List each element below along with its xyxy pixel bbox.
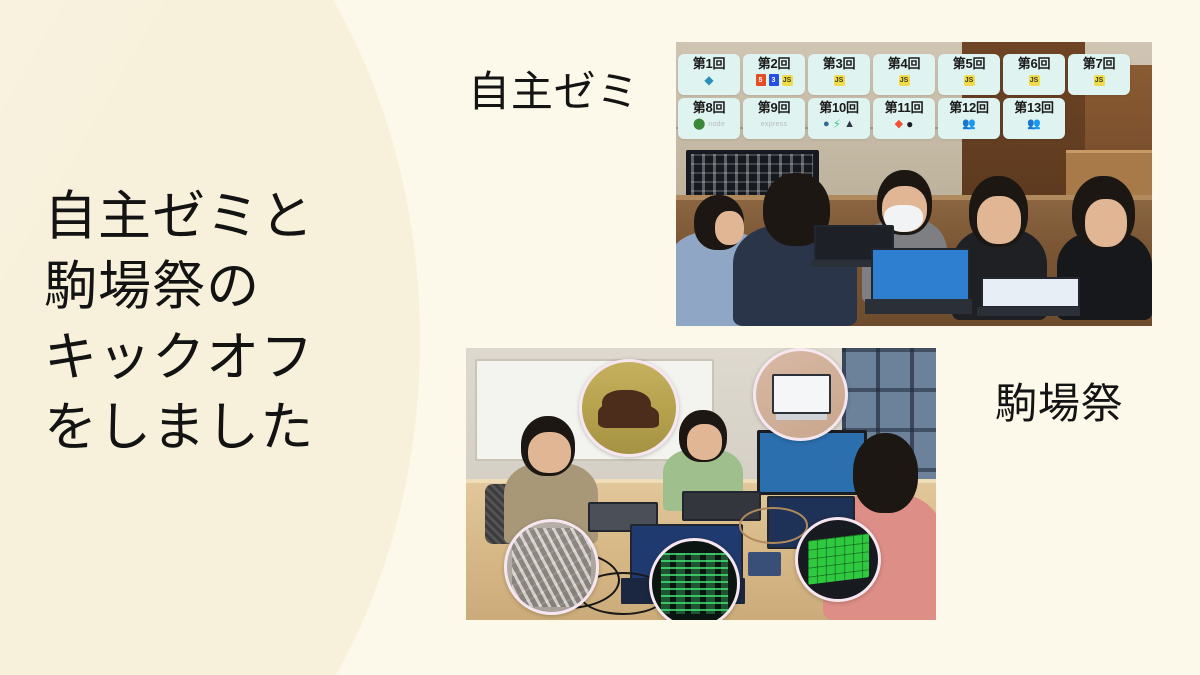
vscode-icon: ◆ <box>704 74 713 86</box>
css3-icon: 3 <box>769 74 779 86</box>
session-card-13[interactable]: 第13回 👥 <box>1003 98 1065 139</box>
session-card-icons: JS <box>1029 73 1040 87</box>
prisma-icon: ▲ <box>844 119 855 130</box>
session-cards-row-2: 第8回 ⬤ node 第9回 express 第10回 ● ⚡ ▲ <box>678 98 1152 139</box>
session-card-title: 第12回 <box>949 101 988 115</box>
session-card-title: 第8回 <box>693 101 725 115</box>
session-card-title: 第9回 <box>758 101 790 115</box>
session-card-title: 第6回 <box>1018 57 1050 71</box>
festival-photo <box>466 348 936 620</box>
session-card-2[interactable]: 第2回 5 3 JS <box>743 54 805 95</box>
session-card-title: 第13回 <box>1014 101 1053 115</box>
page-title: 自主ゼミと 駒場祭の キックオフ をしました <box>44 182 394 464</box>
postgresql-icon: ● <box>823 119 830 130</box>
javascript-icon: JS <box>834 75 845 86</box>
session-card-8[interactable]: 第8回 ⬤ node <box>678 98 740 139</box>
laptop-presentation-thumbnail[interactable] <box>753 348 848 441</box>
person-face <box>977 196 1021 243</box>
session-card-7[interactable]: 第7回 JS <box>1068 54 1130 95</box>
cable-loop-3 <box>739 507 809 544</box>
session-card-6[interactable]: 第6回 JS <box>1003 54 1065 95</box>
session-card-title: 第3回 <box>823 57 855 71</box>
laptop-screen <box>981 277 1080 308</box>
title-line-4: をしました <box>44 393 394 463</box>
laptop-right <box>981 281 1076 326</box>
session-card-icons: 👥 <box>962 117 976 131</box>
session-card-icons: ◆ <box>704 73 713 87</box>
laptop-screen <box>871 248 970 301</box>
nodejs-icon: ⬤ <box>693 119 705 130</box>
javascript-icon: JS <box>1029 75 1040 86</box>
session-card-title: 第4回 <box>888 57 920 71</box>
title-line-2: 駒場祭の <box>44 252 394 322</box>
session-cards-overlay: 第1回 ◆ 第2回 5 3 JS 第3回 JS 第4回 <box>678 54 1152 139</box>
session-card-icons: 5 3 JS <box>756 73 793 87</box>
git-icon: ◆ <box>895 119 903 130</box>
person-head <box>853 433 919 513</box>
smartphone <box>748 552 781 576</box>
session-card-4[interactable]: 第4回 JS <box>873 54 935 95</box>
github-icon: ● <box>906 118 913 130</box>
session-card-title: 第11回 <box>885 101 924 115</box>
session-card-icons: ◆ ● <box>895 117 914 131</box>
festival-section-label: 駒場祭 <box>995 370 1124 431</box>
session-card-10[interactable]: 第10回 ● ⚡ ▲ <box>808 98 870 139</box>
people-icon: 👥 <box>1027 119 1041 130</box>
presentation-slide: 自主ゼミと 駒場祭の キックオフ をしました 自主ゼミ 駒場祭 <box>0 0 1200 675</box>
javascript-icon: JS <box>964 75 975 86</box>
laptop-keyboard <box>977 307 1080 316</box>
javascript-icon: JS <box>1094 75 1105 86</box>
green-led-matrix-thumbnail[interactable] <box>795 517 881 602</box>
session-card-1[interactable]: 第1回 ◆ <box>678 54 740 95</box>
session-card-icons: 👥 <box>1027 117 1041 131</box>
session-card-icons: JS <box>1094 73 1105 87</box>
session-card-icons: JS <box>899 73 910 87</box>
session-card-12[interactable]: 第12回 👥 <box>938 98 1000 139</box>
horse-photo-thumbnail[interactable] <box>579 359 679 457</box>
html5-icon: 5 <box>756 74 766 86</box>
laptop-center <box>871 252 966 326</box>
person-face <box>528 432 571 474</box>
title-line-1: 自主ゼミと <box>44 182 394 252</box>
session-card-5[interactable]: 第5回 JS <box>938 54 1000 95</box>
session-card-icons: ⬤ node <box>693 117 725 131</box>
express-wordmark-icon: express <box>761 121 787 128</box>
session-card-icons: JS <box>964 73 975 87</box>
seminar-section-label: 自主ゼミ <box>468 58 639 119</box>
javascript-icon: JS <box>782 75 793 86</box>
session-card-11[interactable]: 第11回 ◆ ● <box>873 98 935 139</box>
green-terminal-thumbnail[interactable] <box>649 538 740 620</box>
session-card-icons: JS <box>834 73 845 87</box>
title-line-3: キックオフ <box>44 323 394 393</box>
session-card-title: 第5回 <box>953 57 985 71</box>
javascript-icon: JS <box>899 75 910 86</box>
nodejs-wordmark-icon: node <box>708 121 725 128</box>
session-card-icons: ● ⚡ ▲ <box>823 117 855 131</box>
session-card-title: 第10回 <box>819 101 858 115</box>
people-icon: 👥 <box>962 119 976 130</box>
session-card-3[interactable]: 第3回 JS <box>808 54 870 95</box>
person-face <box>1085 199 1127 246</box>
laptop-keyboard <box>865 299 972 314</box>
session-card-9[interactable]: 第9回 express <box>743 98 805 139</box>
person-face <box>687 424 722 459</box>
session-card-icons: express <box>761 117 787 131</box>
session-cards-row-1: 第1回 ◆ 第2回 5 3 JS 第3回 JS 第4回 <box>678 54 1152 95</box>
session-card-title: 第7回 <box>1083 57 1115 71</box>
supabase-icon: ⚡ <box>833 118 841 130</box>
session-card-title: 第2回 <box>758 57 790 71</box>
session-card-title: 第1回 <box>693 57 725 71</box>
grayscale-scene-thumbnail[interactable] <box>504 519 599 615</box>
